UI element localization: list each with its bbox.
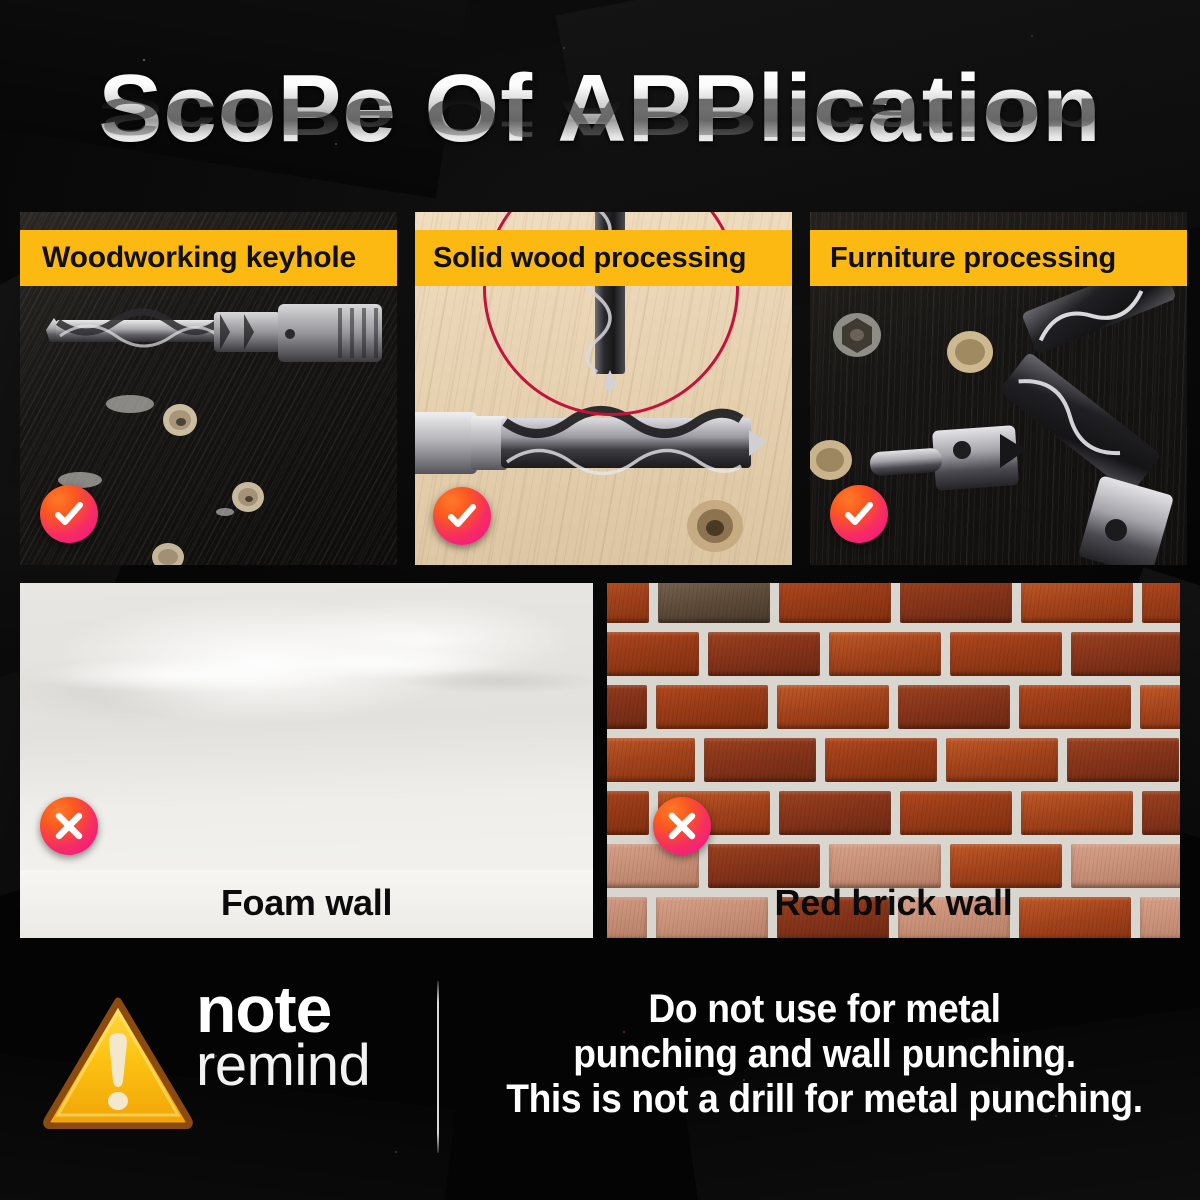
card-label-bar: Furniture processing xyxy=(810,230,1187,286)
infographic-root: ScoPe Of APPlication ScoPe Of APPlicatio… xyxy=(0,0,1200,1200)
cross-badge xyxy=(40,797,98,855)
cross-icon xyxy=(52,809,86,843)
rejected-card-red-brick-wall[interactable]: Red brick wall xyxy=(607,583,1180,938)
warning-line-1: Do not use for metal xyxy=(481,987,1168,1032)
check-icon xyxy=(51,496,87,532)
check-badge xyxy=(433,487,491,545)
countersink-body xyxy=(869,425,1026,491)
card-caption: Foam wall xyxy=(20,882,593,924)
brick-course xyxy=(607,583,1180,623)
twist-bit-lower xyxy=(998,352,1161,495)
warning-line-2: punching and wall punching. xyxy=(481,1032,1168,1077)
note-divider xyxy=(437,981,439,1153)
cross-icon xyxy=(665,809,699,843)
warning-triangle-icon xyxy=(42,993,194,1129)
check-icon xyxy=(841,496,877,532)
note-heading-block: note remind xyxy=(196,979,370,1093)
drilled-hole-illustration xyxy=(670,490,760,565)
brick-course xyxy=(607,632,1180,676)
foam-wall-texture-ridge xyxy=(20,639,593,699)
wood-plug-upper xyxy=(947,331,993,373)
page-title-reflection: ScoPe Of APPlication xyxy=(0,90,1200,142)
warning-line-3: This is not a drill for metal punching. xyxy=(481,1077,1168,1122)
note-subheading: remind xyxy=(196,1038,370,1093)
cross-badge xyxy=(653,797,711,855)
brick-course xyxy=(607,738,1180,782)
card-label-text: Solid wood processing xyxy=(415,242,746,275)
countersink-body-lower xyxy=(1078,475,1174,565)
approved-card-solid-wood-processing[interactable]: Solid wood processing xyxy=(415,212,792,565)
rejected-card-foam-wall[interactable]: Foam wall xyxy=(20,583,593,938)
rejected-card-row: Foam wall xyxy=(20,583,1180,938)
check-badge xyxy=(40,485,98,543)
socket-screw xyxy=(833,313,881,357)
card-label-text: Furniture processing xyxy=(810,242,1116,275)
wood-plug-left xyxy=(810,440,852,480)
card-label-text: Woodworking keyhole xyxy=(20,241,356,275)
check-icon xyxy=(444,498,480,534)
brick-course xyxy=(607,685,1180,729)
approved-card-row: Woodworking keyhole xyxy=(20,212,1187,565)
note-heading: note xyxy=(196,979,370,1040)
page-title-block: ScoPe Of APPlication ScoPe Of APPlicatio… xyxy=(0,62,1200,236)
approved-card-woodworking-keyhole[interactable]: Woodworking keyhole xyxy=(20,212,397,565)
card-label-bar: Solid wood processing xyxy=(415,230,792,286)
card-label-bar: Woodworking keyhole xyxy=(20,230,397,286)
approved-card-furniture-processing[interactable]: Furniture processing xyxy=(810,212,1187,565)
note-section: note remind Do not use for metal punchin… xyxy=(0,975,1200,1175)
warning-text-block: Do not use for metal punching and wall p… xyxy=(455,987,1194,1121)
check-badge xyxy=(830,485,888,543)
card-caption: Red brick wall xyxy=(607,882,1180,924)
